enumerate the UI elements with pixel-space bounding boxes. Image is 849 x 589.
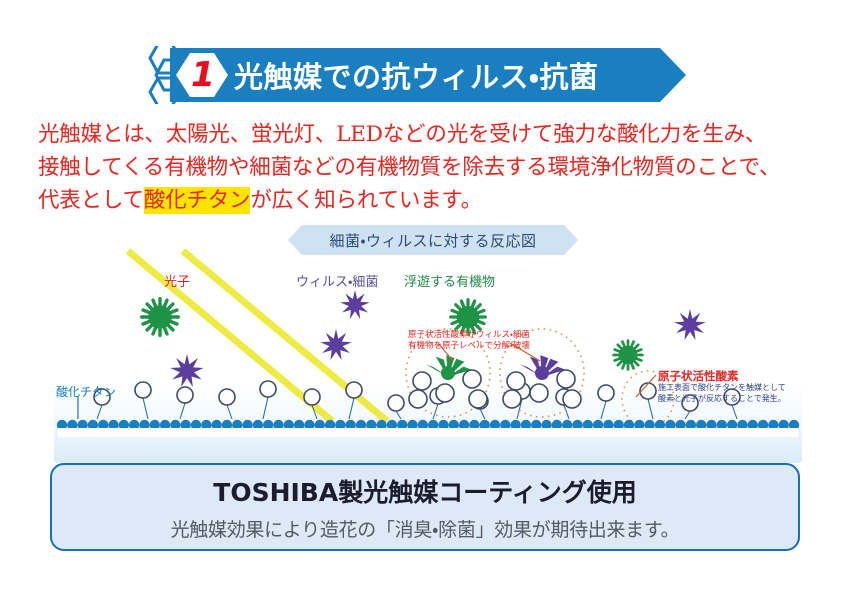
oxygen-radical-14 <box>640 383 656 419</box>
oxygen-radical-8 <box>388 395 404 419</box>
label-photon: 光子 <box>164 275 190 291</box>
annotation-right-body: 施工表面で酸化チタンを触媒として 酸素と光子が反応することで発生。 <box>658 383 786 404</box>
reaction-diagram: 細菌・ウィルスに対する反応図 光子 ウィルス・細菌 浮遊する有機物 酸化チタン … <box>40 225 815 470</box>
oxygen-radical-4 <box>219 389 235 419</box>
footer-title: TOSHIBA製光触媒コーティング使用 <box>213 473 636 509</box>
particle-virus-3 <box>340 290 370 319</box>
header-banner: 1 光触媒での抗ウィルス・抗菌 <box>148 46 688 104</box>
annotation-right-title: 原子状活性酸素 <box>658 369 739 383</box>
label-virus-bacteria: ウィルス・細菌 <box>296 275 378 291</box>
annotation-right-line-2: 酸素と光子が反応することで発生。 <box>658 394 786 405</box>
annotation-right-line-1: 施工表面で酸化チタンを触媒として <box>658 383 786 394</box>
annotation-middle: 原子状活性酸素がウィルス・細菌 有機物を原子レベルで分解・破壊 <box>408 330 530 352</box>
highlighted-term: 酸化チタン <box>144 187 251 214</box>
oxygen-radical-13 <box>598 385 614 419</box>
coating-substrate-band <box>58 428 798 437</box>
particle-virus-4 <box>320 329 352 360</box>
lead-line-3: 代表として酸化チタンが広く知られています。 <box>38 184 828 217</box>
lead-line-3-before: 代表として <box>38 188 144 213</box>
footer-subtitle: 光触媒効果により造花の「消臭・除菌」効果が期待出来ます。 <box>171 515 680 542</box>
label-floating-organic: 浮遊する有機物 <box>404 275 495 291</box>
particle-organic-6 <box>614 341 643 370</box>
lead-line-3-after: が広く知られています。 <box>250 188 482 213</box>
footer-callout-box: TOSHIBA製光触媒コーティング使用 光触媒効果により造花の「消臭・除菌」効果… <box>50 463 800 551</box>
oxygen-radical-5 <box>260 381 276 419</box>
oxygen-radical-3 <box>177 387 193 419</box>
particle-virus-7 <box>674 309 706 340</box>
header-number-badge: 1 <box>177 55 229 95</box>
particle-virus-2 <box>170 354 203 387</box>
label-titanium-dioxide: 酸化チタン <box>56 385 116 400</box>
annotation-middle-line-2: 有機物を原子レベルで分解・破壊 <box>408 341 530 352</box>
oxygen-radical-2 <box>135 382 151 419</box>
lead-line-2: 接触してくる有機物や細菌などの有機物質を除去する環境浄化物質のことで、 <box>38 151 828 184</box>
page-title: 光触媒での抗ウィルス・抗菌 <box>234 46 598 104</box>
particle-organic-1 <box>142 299 179 336</box>
annotation-middle-line-1: 原子状活性酸素がウィルス・細菌 <box>408 330 530 341</box>
lead-line-1: 光触媒とは、太陽光、蛍光灯、LEDなどの光を受けて強力な酸化力を生み、 <box>38 118 828 151</box>
lead-paragraph: 光触媒とは、太陽光、蛍光灯、LEDなどの光を受けて強力な酸化力を生み、 接触して… <box>38 118 828 217</box>
